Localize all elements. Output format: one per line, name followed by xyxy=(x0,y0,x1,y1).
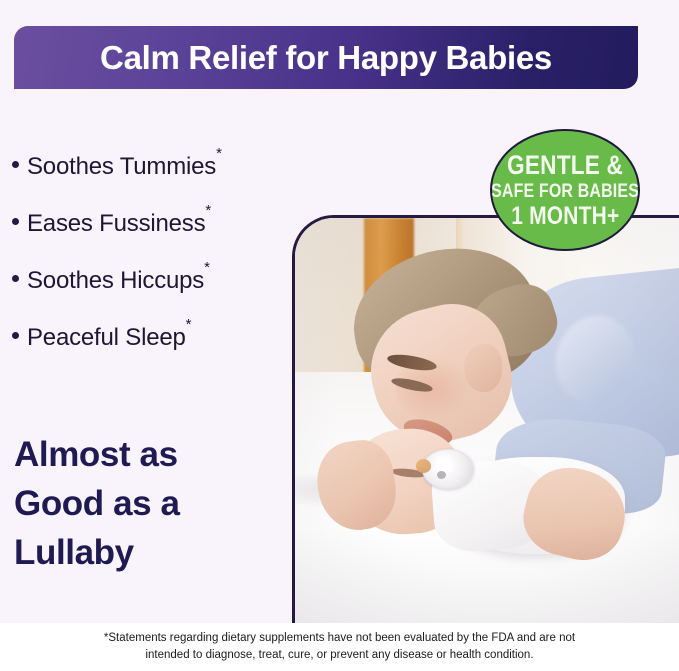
footnote-marker: * xyxy=(216,145,222,162)
bullet-dot-icon xyxy=(12,161,19,168)
footnote-marker: * xyxy=(205,202,211,219)
tagline-line-3: Lullaby xyxy=(14,528,284,577)
footnote-marker: * xyxy=(186,316,192,333)
benefits-list: Soothes Tummies* Eases Fussiness* Soothe… xyxy=(12,152,302,380)
bullet-dot-icon xyxy=(12,332,19,339)
bullet-dot-icon xyxy=(12,275,19,282)
list-item: Soothes Tummies* xyxy=(12,152,302,209)
disclaimer-line-2: intended to diagnose, treat, cure, or pr… xyxy=(145,647,533,664)
badge-line-1: GENTLE & xyxy=(507,151,623,180)
footnote-marker: * xyxy=(204,259,210,276)
benefit-label: Soothes Hiccups* xyxy=(27,266,210,295)
photo-content xyxy=(295,218,679,623)
list-item: Soothes Hiccups* xyxy=(12,266,302,323)
product-feature-banner: Calm Relief for Happy Babies Soothes Tum… xyxy=(0,0,679,671)
benefit-label: Peaceful Sleep* xyxy=(27,323,191,352)
benefit-label: Soothes Tummies* xyxy=(27,152,222,181)
list-item: Peaceful Sleep* xyxy=(12,323,302,380)
footer-disclaimer: *Statements regarding dietary supplement… xyxy=(0,623,679,671)
badge-line-2: SAFE FOR BABIES xyxy=(491,180,639,203)
list-item: Eases Fussiness* xyxy=(12,209,302,266)
tagline-line-1: Almost as xyxy=(14,430,284,479)
banner-title: Calm Relief for Happy Babies xyxy=(100,39,552,77)
tagline: Almost as Good as a Lullaby xyxy=(14,430,284,577)
header-banner: Calm Relief for Happy Babies xyxy=(14,26,638,89)
badge-line-3: 1 MONTH+ xyxy=(511,203,619,230)
benefit-label: Eases Fussiness* xyxy=(27,209,211,238)
tagline-line-2: Good as a xyxy=(14,479,284,528)
gentle-safe-badge: GENTLE & SAFE FOR BABIES 1 MONTH+ xyxy=(490,129,640,251)
disclaimer-line-1: *Statements regarding dietary supplement… xyxy=(104,630,575,647)
photo-vignette xyxy=(295,218,679,623)
bullet-dot-icon xyxy=(12,218,19,225)
lifestyle-photo xyxy=(292,215,679,623)
